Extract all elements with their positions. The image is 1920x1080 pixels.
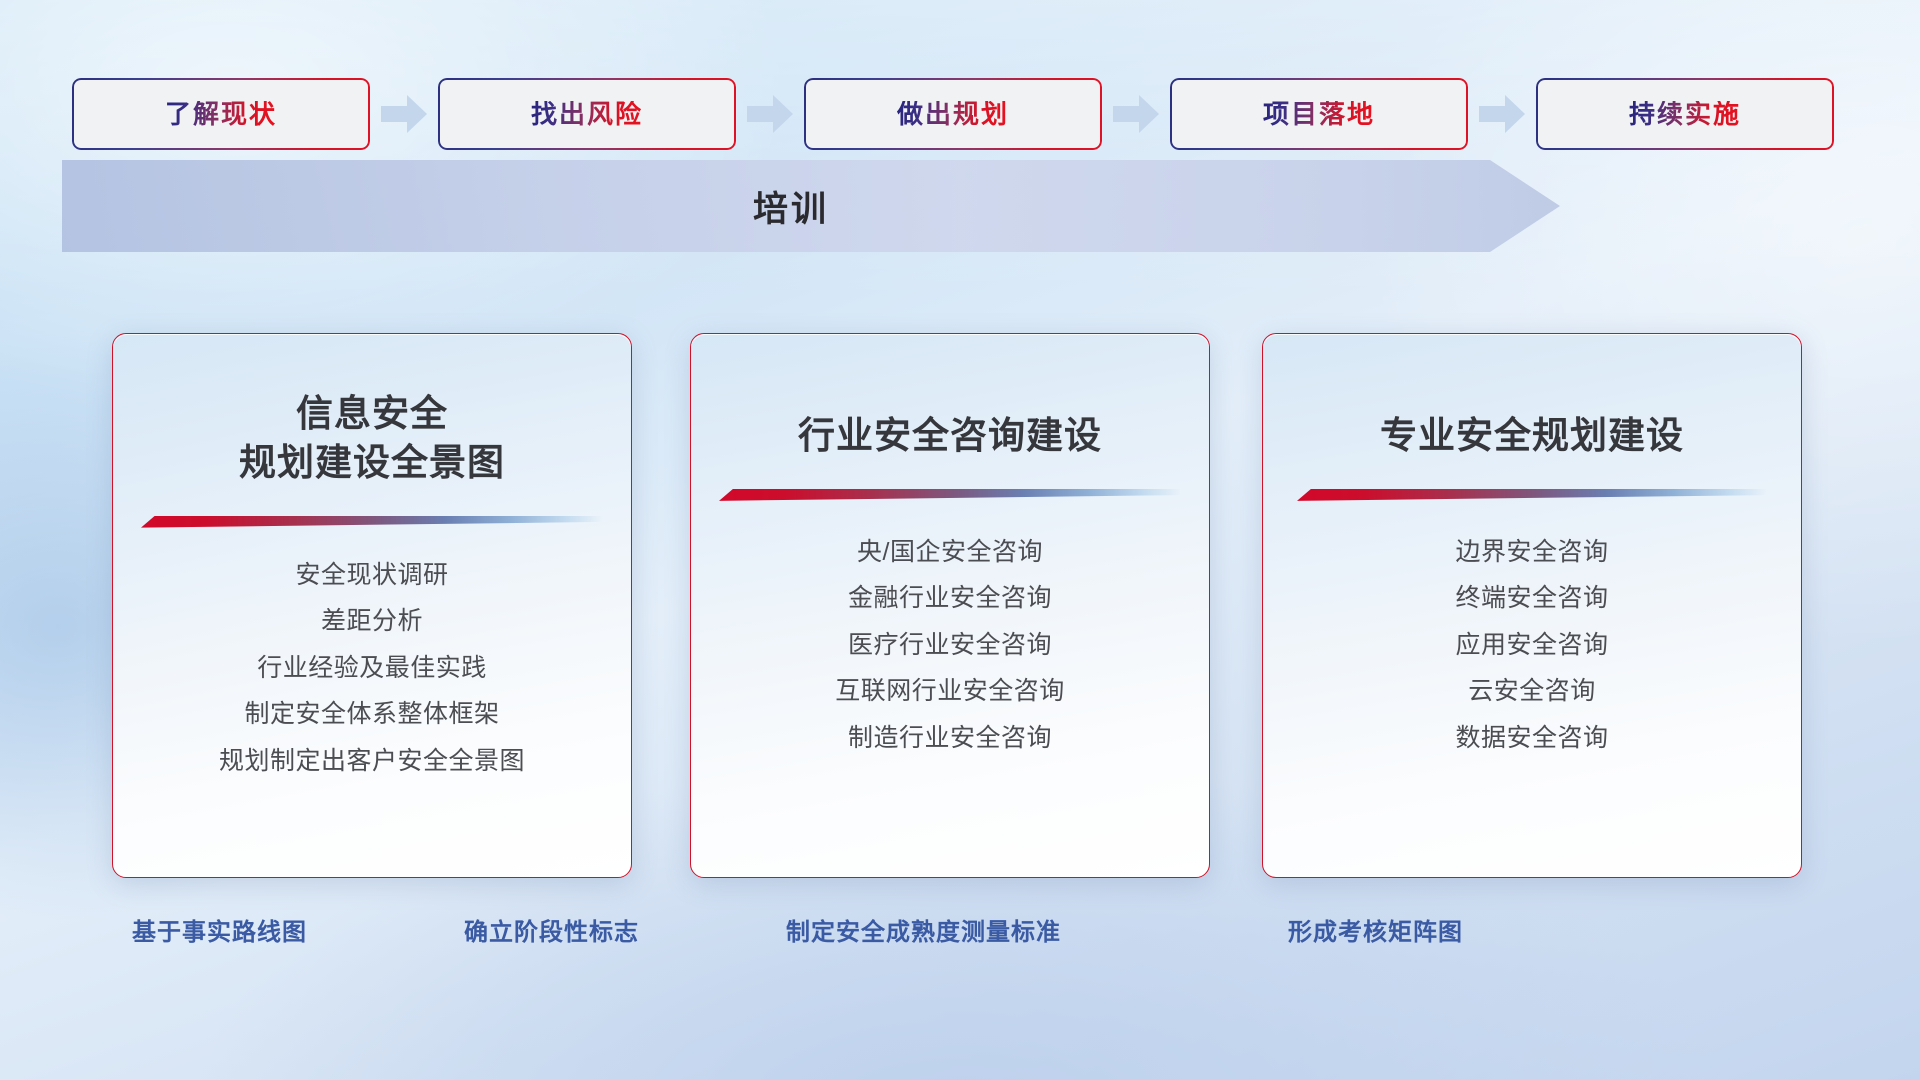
background-sheen [0, 0, 1920, 300]
flow-step-3[interactable]: 做出规划 [804, 78, 1102, 150]
list-item: 互联网行业安全咨询 [835, 678, 1065, 706]
list-item: 终端安全咨询 [1455, 585, 1608, 613]
card-divider [1297, 489, 1767, 501]
flow-step-1[interactable]: 了解现状 [72, 78, 370, 150]
card-item-list: 边界安全咨询 终端安全咨询 应用安全咨询 云安全咨询 数据安全咨询 [1455, 539, 1608, 753]
right-arrow-icon [746, 94, 794, 134]
card-divider [141, 516, 603, 528]
card-title: 信息安全 规划建设全景图 [239, 390, 505, 488]
card-item-list: 安全现状调研 差距分析 行业经验及最佳实践 制定安全体系整体框架 规划制定出客户… [219, 562, 525, 776]
card-professional-security-planning[interactable]: 专业安全规划建设 边界安全咨询 终端安全咨询 应用安全咨询 云安全咨询 数据安全… [1262, 333, 1802, 878]
right-arrow-icon [1112, 94, 1160, 134]
card-information-security-blueprint[interactable]: 信息安全 规划建设全景图 安全现状调研 差距分析 行业经验及最佳实践 制定安全体… [112, 333, 632, 878]
list-item: 制造行业安全咨询 [848, 725, 1052, 753]
list-item: 央/国企安全咨询 [857, 539, 1043, 567]
caption-maturity-standard: 制定安全成熟度测量标准 [786, 912, 1061, 947]
right-arrow-icon [380, 94, 428, 134]
list-item: 云安全咨询 [1468, 678, 1596, 706]
caption-assessment-matrix: 形成考核矩阵图 [1288, 912, 1463, 947]
banner-label: 培训 [62, 160, 1560, 252]
list-item: 安全现状调研 [295, 562, 448, 590]
card-group: 信息安全 规划建设全景图 安全现状调研 差距分析 行业经验及最佳实践 制定安全体… [0, 333, 1920, 878]
card-industry-security-consulting[interactable]: 行业安全咨询建设 央/国企安全咨询 金融行业安全咨询 医疗行业安全咨询 互联网行… [690, 333, 1210, 878]
list-item: 行业经验及最佳实践 [257, 655, 487, 683]
card-title: 行业安全咨询建设 [798, 412, 1102, 461]
flow-step-label: 项目落地 [1263, 101, 1375, 127]
flow-step-4[interactable]: 项目落地 [1170, 78, 1468, 150]
caption-milestones: 确立阶段性标志 [464, 912, 639, 947]
list-item: 规划制定出客户安全全景图 [219, 748, 525, 776]
flow-step-label: 做出规划 [897, 101, 1009, 127]
training-banner: 培训 [62, 160, 1560, 252]
list-item: 数据安全咨询 [1455, 725, 1608, 753]
right-arrow-icon [1478, 94, 1526, 134]
flow-step-label: 持续实施 [1629, 101, 1741, 127]
card-title: 专业安全规划建设 [1380, 412, 1684, 461]
list-item: 差距分析 [321, 608, 423, 636]
flow-step-label: 了解现状 [165, 101, 277, 127]
process-flow: 了解现状 找出风险 做出规划 项目落地 持续实施 [72, 78, 1862, 150]
list-item: 制定安全体系整体框架 [244, 701, 499, 729]
flow-step-5[interactable]: 持续实施 [1536, 78, 1834, 150]
flow-step-2[interactable]: 找出风险 [438, 78, 736, 150]
caption-row: 基于事实路线图 确立阶段性标志 制定安全成熟度测量标准 形成考核矩阵图 [0, 912, 1920, 958]
card-divider [719, 489, 1181, 501]
card-item-list: 央/国企安全咨询 金融行业安全咨询 医疗行业安全咨询 互联网行业安全咨询 制造行… [835, 539, 1065, 753]
list-item: 边界安全咨询 [1455, 539, 1608, 567]
flow-step-label: 找出风险 [531, 101, 643, 127]
list-item: 金融行业安全咨询 [848, 585, 1052, 613]
list-item: 医疗行业安全咨询 [848, 632, 1052, 660]
caption-roadmap: 基于事实路线图 [132, 912, 307, 947]
list-item: 应用安全咨询 [1455, 632, 1608, 660]
